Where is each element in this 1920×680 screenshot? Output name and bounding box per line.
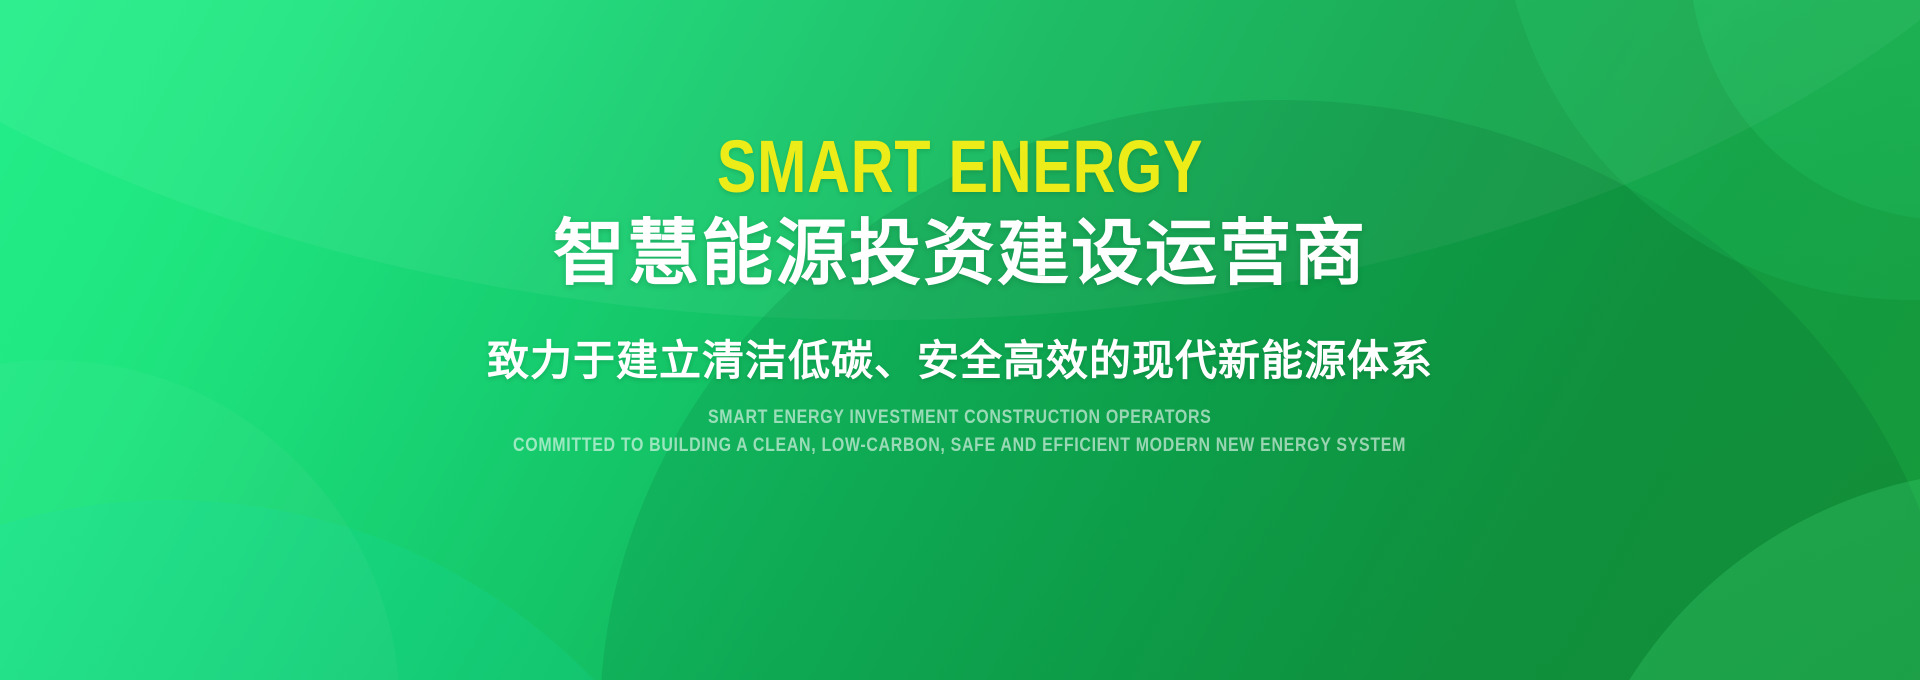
banner-title-english: SMART ENERGY xyxy=(717,130,1204,204)
banner-eyebrow-line-2: COMMITTED TO BUILDING A CLEAN, LOW-CARBO… xyxy=(513,436,1406,457)
hero-banner: SMART ENERGY 智慧能源投资建设运营商 致力于建立清洁低碳、安全高效的… xyxy=(0,0,1920,680)
banner-title-chinese: 智慧能源投资建设运营商 xyxy=(553,216,1367,294)
banner-subtitle-chinese: 致力于建立清洁低碳、安全高效的现代新能源体系 xyxy=(487,338,1433,384)
banner-eyebrow-line-1: SMART ENERGY INVESTMENT CONSTRUCTION OPE… xyxy=(708,408,1212,429)
banner-eyebrow-group: SMART ENERGY INVESTMENT CONSTRUCTION OPE… xyxy=(428,408,1491,457)
banner-content: SMART ENERGY 智慧能源投资建设运营商 致力于建立清洁低碳、安全高效的… xyxy=(0,0,1920,680)
